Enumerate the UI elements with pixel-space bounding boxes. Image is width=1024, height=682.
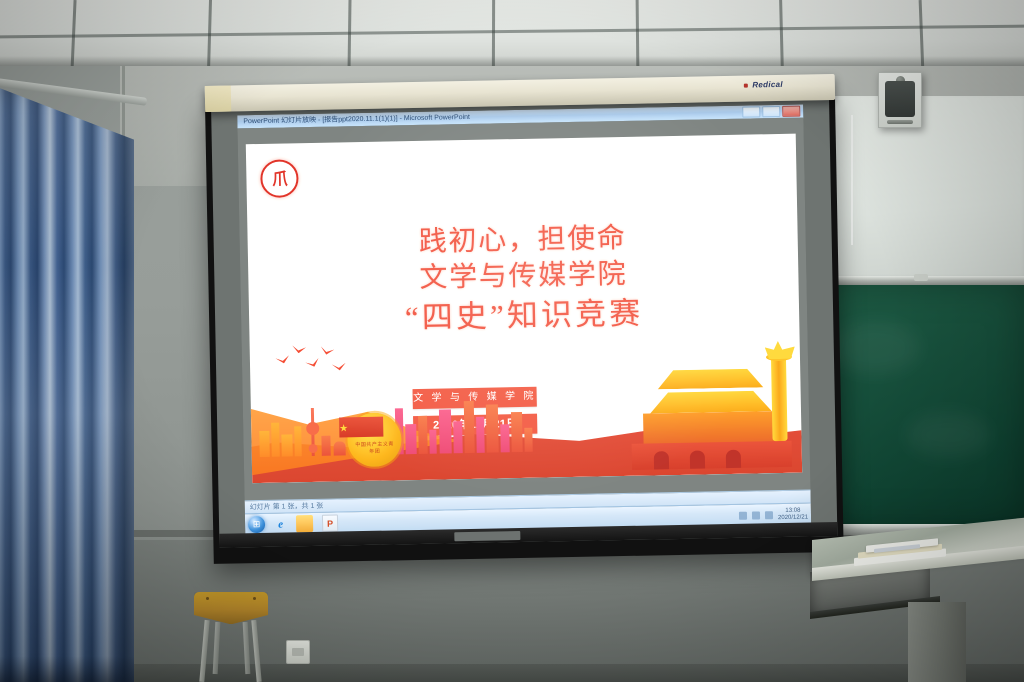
tiananmen-gate-illustration — [626, 357, 796, 472]
huabiao-column — [771, 357, 788, 441]
wall-speaker — [878, 72, 922, 128]
university-logo-glyph: 爪 — [272, 170, 288, 187]
projector-brand-label: Redical — [752, 80, 783, 90]
emblem-star-icon: ★ — [339, 423, 348, 434]
close-button[interactable] — [782, 106, 800, 117]
slide-artwork: ★ 中国共产主义青年团 — [249, 323, 802, 484]
curtain-hem — [0, 656, 134, 682]
university-logo-icon: 爪 — [260, 159, 299, 198]
file-explorer-icon[interactable] — [296, 515, 313, 532]
housing-end-cap — [205, 86, 231, 112]
emblem-text: 中国共产主义青年团 — [354, 440, 396, 455]
teacher-podium[interactable] — [812, 540, 1024, 682]
powerpoint-taskbar-icon[interactable]: P — [322, 515, 338, 532]
tray-volume-icon[interactable] — [752, 511, 760, 519]
screen-surface: PowerPoint 幻灯片放映 - [报告ppt2020.11.1(1)(1)… — [211, 96, 837, 548]
minimize-button[interactable] — [742, 106, 760, 117]
classroom-scene: Redical PowerPoint 幻灯片放映 - [报告ppt2020.11… — [0, 0, 1024, 682]
slide-title-block: 践初心，担使命 文学与传媒学院 “四史”知识竞赛 — [247, 218, 799, 342]
internet-explorer-icon[interactable]: e — [272, 515, 289, 532]
system-tray[interactable]: 13:08 2020/12/21 — [739, 507, 811, 522]
gate-lower-roof — [635, 389, 787, 414]
projector-screen: PowerPoint 幻灯片放映 - [报告ppt2020.11.1(1)(1)… — [205, 92, 844, 564]
window-curtain[interactable] — [0, 86, 134, 682]
speaker-grille — [885, 81, 915, 117]
wall-power-outlet[interactable] — [286, 640, 310, 664]
emblem-flag: ★ — [339, 417, 383, 438]
projected-desktop: PowerPoint 幻灯片放映 - [报告ppt2020.11.1(1)(1)… — [237, 105, 811, 536]
podium-leg — [908, 602, 966, 682]
taskbar-clock[interactable]: 13:08 2020/12/21 — [778, 507, 808, 521]
speaker-port — [887, 120, 913, 124]
tray-shield-icon[interactable] — [765, 511, 773, 519]
wooden-chair[interactable] — [188, 592, 274, 682]
chalkboard-clip-top — [914, 274, 928, 281]
gate-wall — [632, 441, 792, 470]
flying-birds-icon — [276, 341, 367, 383]
maximize-button[interactable] — [762, 106, 780, 117]
presentation-slide[interactable]: 爪 践初心，担使命 文学与传媒学院 “四史”知识竞赛 文 学 与 传 媒 学 院… — [246, 134, 802, 483]
suspended-ceiling — [0, 0, 1024, 72]
tray-network-icon[interactable] — [739, 511, 747, 519]
clock-date: 2020/12/21 — [778, 514, 808, 521]
slide-counter: 幻灯片 第 1 张，共 1 张 — [250, 501, 324, 512]
gate-upper-roof — [644, 367, 776, 390]
start-button-icon[interactable]: ⊞ — [248, 516, 265, 533]
window-controls[interactable] — [742, 106, 800, 118]
slide-viewport: 爪 践初心，担使命 文学与传媒学院 “四史”知识竞赛 文 学 与 传 媒 学 院… — [237, 118, 810, 502]
huabiao-cloud-wing — [765, 341, 795, 360]
curtain-sheen — [0, 86, 134, 682]
green-chalkboard — [814, 282, 1024, 530]
tv-tower-icon — [311, 408, 315, 456]
